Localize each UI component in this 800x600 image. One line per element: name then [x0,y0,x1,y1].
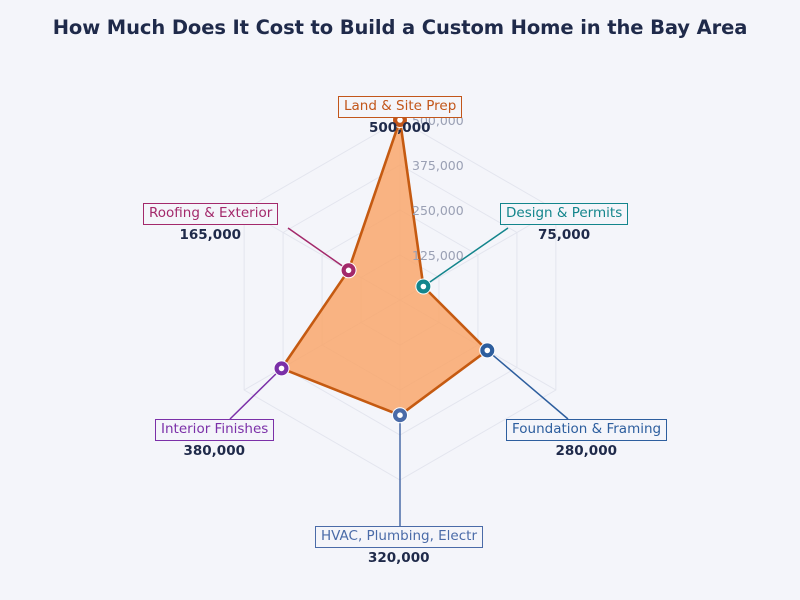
axis-label-1: Land & Site Prep [338,96,462,118]
axis-label-3: Foundation & Framing [506,419,667,441]
radar-plot-canvas: 500,000375,000250,000125,000 [0,0,800,600]
svg-text:125,000: 125,000 [412,248,464,263]
axis-label-6: Roofing & Exterior [143,203,278,225]
svg-text:250,000: 250,000 [412,203,464,218]
axis-value-2: 75,000 [538,227,590,243]
radar-chart-figure: How Much Does It Cost to Build a Custom … [0,0,800,600]
svg-text:375,000: 375,000 [412,158,464,173]
axis-label-2: Design & Permits [500,203,628,225]
axis-value-3: 280,000 [556,443,618,459]
axis-value-5: 380,000 [184,443,246,459]
axis-value-1: 500,000 [369,120,431,136]
axis-value-4: 320,000 [368,550,430,566]
axis-label-5: Interior Finishes [155,419,274,441]
axis-label-4: HVAC, Plumbing, Electr [315,526,483,548]
axis-value-6: 165,000 [180,227,242,243]
